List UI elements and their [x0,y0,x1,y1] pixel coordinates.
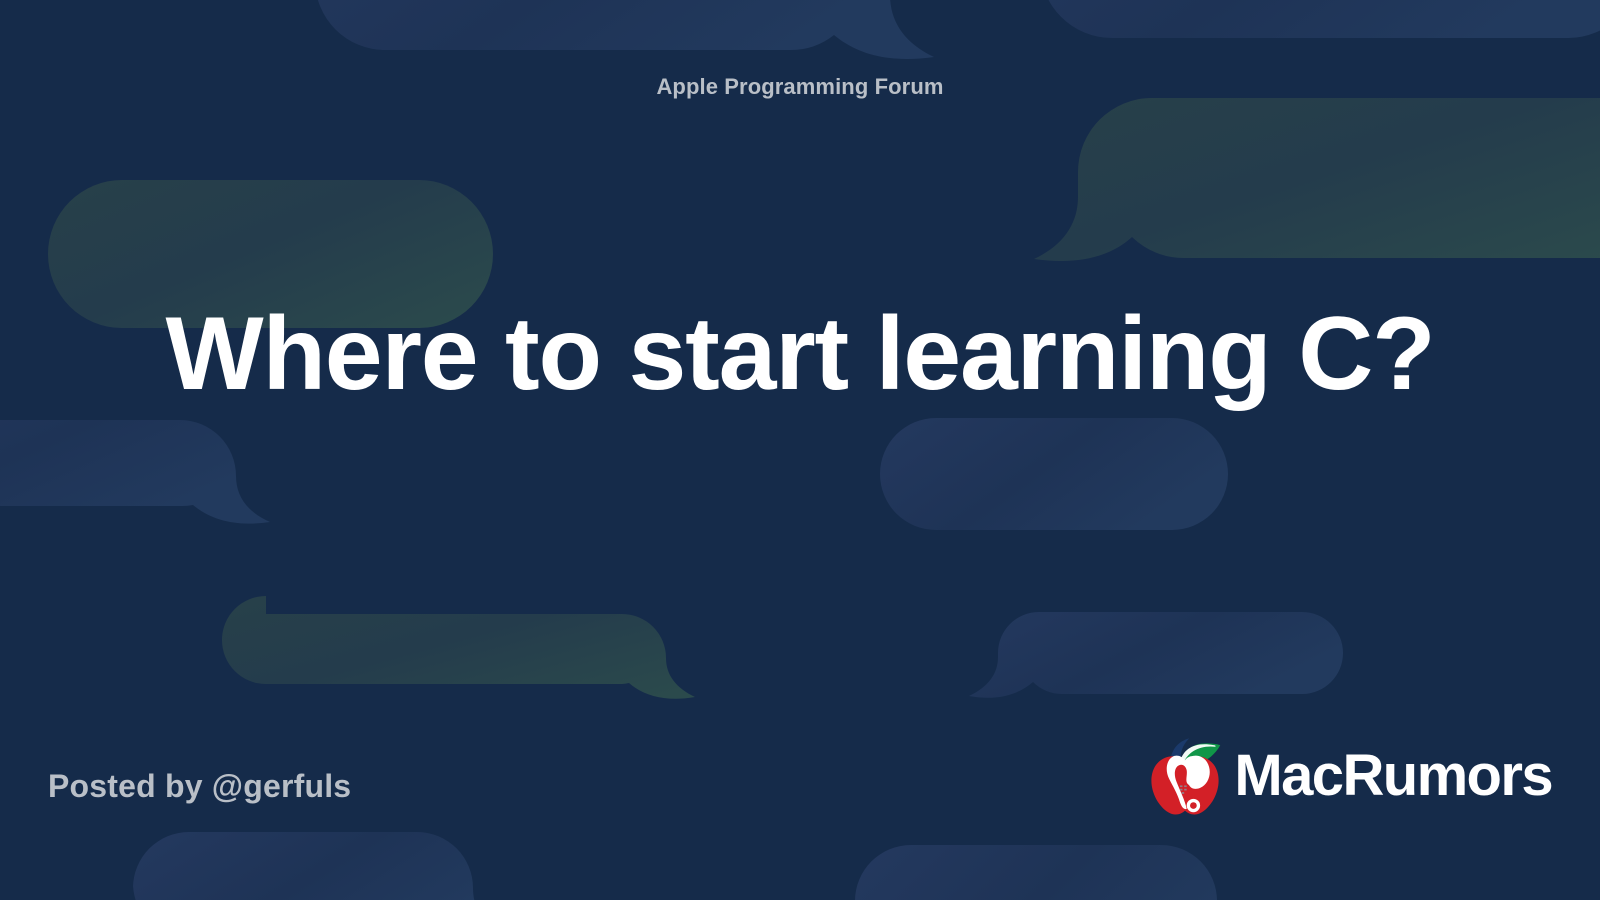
card-content: Apple Programming Forum Where to start l… [0,0,1600,900]
brand-name: MacRumors [1234,747,1552,805]
forum-share-card: Apple Programming Forum Where to start l… [0,0,1600,900]
macrumors-apple-question-mark-icon [1142,735,1228,819]
page-title: Where to start learning C? [120,288,1480,421]
posted-by-label: Posted by @gerfuls [48,768,351,805]
forum-label: Apple Programming Forum [0,74,1600,100]
macrumors-logo: MacRumors [1142,735,1552,819]
